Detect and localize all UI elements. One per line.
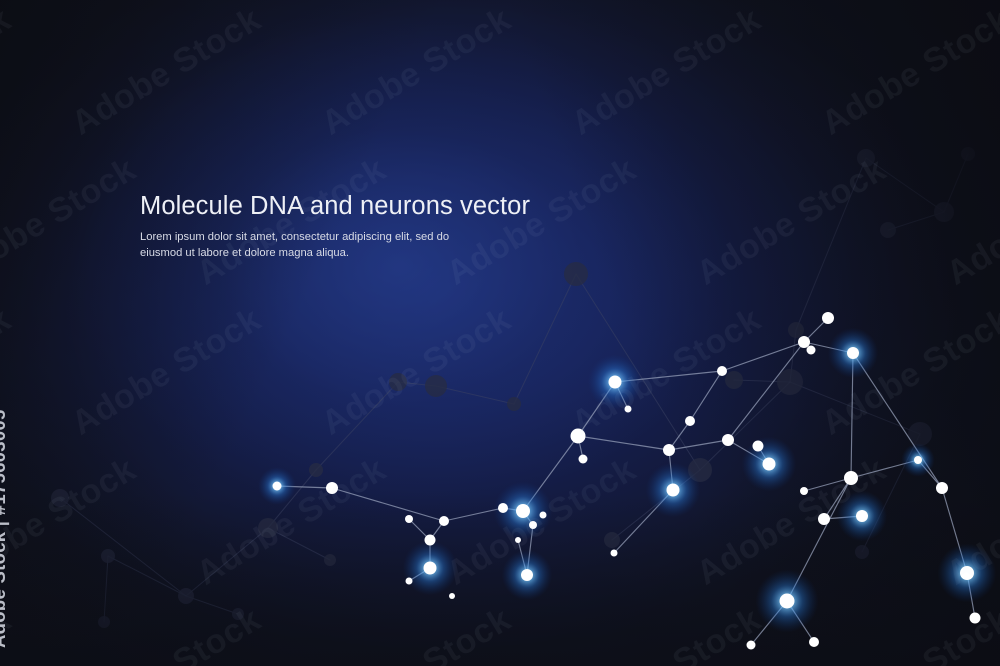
network-edge <box>578 436 669 450</box>
network-edge <box>332 488 444 521</box>
network-node-bright <box>424 562 437 575</box>
page-title: Molecule DNA and neurons vector <box>140 192 560 221</box>
network-node <box>406 578 413 585</box>
network-node <box>663 444 675 456</box>
network-node <box>970 613 981 624</box>
network-node <box>722 434 734 446</box>
network-node-bright <box>667 484 680 497</box>
network-node <box>818 513 830 525</box>
network-node <box>809 637 819 647</box>
network-node-bright <box>960 566 974 580</box>
network-node <box>405 515 413 523</box>
network-node <box>822 312 834 324</box>
network-node <box>449 593 455 599</box>
network-node <box>498 503 508 513</box>
network-node-bright <box>609 376 622 389</box>
network-node-bright <box>273 482 282 491</box>
network-node-bright <box>521 569 533 581</box>
network-node-bright <box>847 347 859 359</box>
network-node <box>753 441 764 452</box>
network-node <box>800 487 808 495</box>
network-node <box>540 512 547 519</box>
network-node <box>611 550 618 557</box>
network-edge <box>669 440 728 450</box>
network-node <box>425 535 436 546</box>
network-edge <box>728 342 804 440</box>
network-node <box>515 537 521 543</box>
caption-block: Molecule DNA and neurons vector Lorem ip… <box>140 192 560 262</box>
network-edge <box>722 342 804 371</box>
network-node <box>439 516 449 526</box>
network-node <box>844 471 858 485</box>
network-node <box>717 366 727 376</box>
network-node <box>807 346 816 355</box>
network-node-bright <box>856 510 868 522</box>
network-node-bright <box>516 504 530 518</box>
network-node <box>798 336 810 348</box>
network-node <box>579 455 588 464</box>
network-node <box>326 482 338 494</box>
network-node-bright <box>780 594 795 609</box>
network-node <box>625 406 632 413</box>
network-node <box>685 416 695 426</box>
network-node-bright <box>914 456 922 464</box>
network-node <box>571 429 586 444</box>
network-node <box>747 641 756 650</box>
illustration-canvas: Molecule DNA and neurons vector Lorem ip… <box>0 0 1000 666</box>
network-node-bright <box>763 458 776 471</box>
network-node <box>936 482 948 494</box>
page-subtitle: Lorem ipsum dolor sit amet, consectetur … <box>140 230 485 262</box>
network-edge <box>690 371 722 421</box>
network-node <box>529 521 537 529</box>
foreground-network-layer <box>0 0 1000 666</box>
network-node-glows <box>258 328 996 633</box>
